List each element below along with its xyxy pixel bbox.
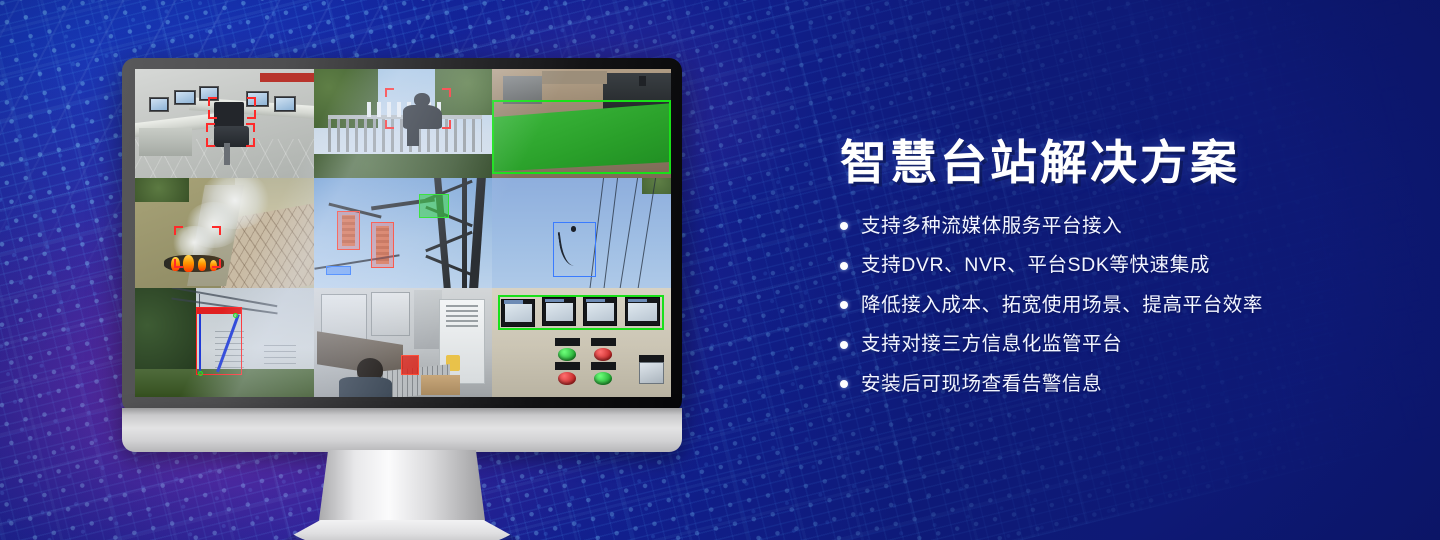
- monitor-bezel: [122, 58, 682, 413]
- solution-banner: 智慧台站解决方案 支持多种流媒体服务平台接入 支持DVR、NVR、平台SDK等快…: [0, 0, 1440, 540]
- bullet-icon: [840, 301, 848, 309]
- indicator-lamp-green: [594, 372, 612, 385]
- detection-bracket: [206, 123, 254, 147]
- detection-box-green: [492, 100, 671, 174]
- video-feed-line-foreign-object: [492, 178, 671, 287]
- bullet-icon: [840, 341, 848, 349]
- bullet-icon: [840, 380, 848, 388]
- feature-label: 安装后可现场查看告警信息: [861, 375, 1102, 395]
- video-feed-green-cover: [492, 69, 671, 178]
- list-item: 支持多种流媒体服务平台接入: [840, 217, 1400, 237]
- detection-box-insulator-a: [337, 211, 360, 250]
- list-item: 降低接入成本、拓宽使用场景、提高平台效率: [840, 296, 1400, 316]
- feature-label: 降低接入成本、拓宽使用场景、提高平台效率: [861, 296, 1263, 316]
- detection-box-insulator-b: [371, 222, 394, 268]
- video-feed-control-cabinet: [492, 288, 671, 397]
- monitor-chin: [122, 408, 682, 452]
- person-body: [339, 377, 393, 397]
- list-item: 支持DVR、NVR、平台SDK等快速集成: [840, 256, 1400, 276]
- feature-list: 支持多种流媒体服务平台接入 支持DVR、NVR、平台SDK等快速集成 降低接入成…: [840, 217, 1400, 395]
- monitor-stand-neck: [318, 450, 486, 528]
- video-feed-equipment-room: [314, 288, 493, 397]
- video-feed-control-room: [135, 69, 314, 178]
- detection-box-tower-part: [419, 194, 449, 218]
- feature-label: 支持多种流媒体服务平台接入: [861, 217, 1122, 237]
- alarm-box-fire-extinguisher: [401, 355, 419, 375]
- indicator-lamp-red: [594, 348, 612, 361]
- video-wall-grid: [135, 69, 671, 397]
- bullet-icon: [840, 262, 848, 270]
- monitor-stand-base: [282, 520, 522, 540]
- detection-box-meters: [498, 295, 664, 330]
- video-feed-open-fire: [135, 178, 314, 287]
- video-feed-fence-intrusion: [314, 69, 493, 178]
- list-item: 支持对接三方信息化监管平台: [840, 335, 1400, 355]
- marketing-copy: 智慧台站解决方案 支持多种流媒体服务平台接入 支持DVR、NVR、平台SDK等快…: [840, 136, 1400, 414]
- detection-box-wire: [326, 266, 351, 275]
- feature-label: 支持DVR、NVR、平台SDK等快速集成: [861, 256, 1210, 276]
- bullet-icon: [840, 222, 848, 230]
- video-feed-pole-tilt: [135, 288, 314, 397]
- list-item: 安装后可现场查看告警信息: [840, 375, 1400, 395]
- page-title: 智慧台站解决方案: [840, 136, 1400, 191]
- feature-label: 支持对接三方信息化监管平台: [861, 335, 1122, 355]
- detection-bracket: [174, 226, 220, 268]
- detection-bracket: [385, 88, 451, 130]
- indicator-lamp-green: [558, 348, 576, 361]
- detection-box-foreign-object: [553, 222, 596, 277]
- monitor-illustration: [122, 58, 682, 498]
- video-feed-transmission-tower: [314, 178, 493, 287]
- detection-bracket: [208, 97, 256, 119]
